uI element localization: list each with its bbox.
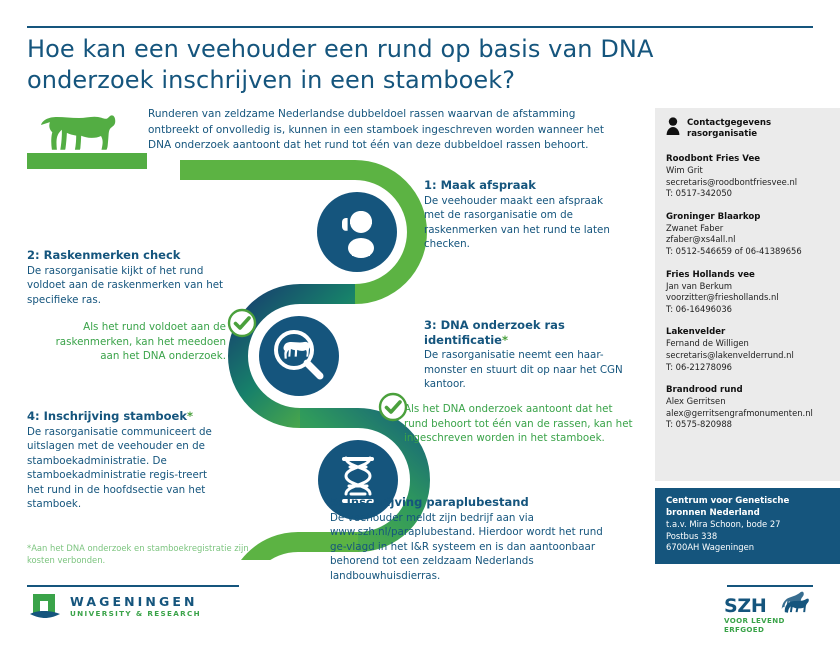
footer-divider-right — [727, 585, 813, 587]
step-1-icon-circle — [317, 192, 397, 272]
step-5-title: 5: Inschrijving paraplubestand — [330, 495, 620, 510]
cgn-line4: Postbus 338 — [666, 531, 834, 543]
footnote-text: *Aan het DNA onderzoek en stamboekregist… — [27, 543, 257, 566]
szh-tagline: VOOR LEVEND ERFGOED — [724, 616, 816, 634]
page-title: Hoe kan een veehouder een rund op basis … — [27, 34, 667, 96]
szh-logo: SZH VOOR LEVEND ERFGOED — [724, 589, 816, 634]
horse-and-cow-icon — [768, 589, 816, 616]
contact-org-brandrood: Brandrood rund Alex Gerritsen alex@gerri… — [666, 384, 834, 431]
step-2-body: De rasorganisatie kijkt of het rund vold… — [27, 264, 227, 308]
contact-org-frieshollands: Fries Hollands vee Jan van Berkum voorzi… — [666, 269, 834, 316]
step-5-body: De veehouder meldt zijn bedrijf aan via … — [330, 511, 620, 584]
step-1-body: De veehouder maakt een afspraak met de r… — [424, 194, 624, 252]
org-email[interactable]: secretaris@roodbontfriesvee.nl — [666, 177, 834, 189]
cow-illustration — [27, 103, 147, 169]
step-1-text: 1: Maak afspraak De veehouder maakt een … — [424, 178, 624, 252]
step-4-text: 4: Inschrijving stamboek* De rasorganisa… — [27, 409, 227, 512]
step-2-title: 2: Raskenmerken check — [27, 248, 227, 263]
szh-wordmark: SZH — [724, 596, 766, 616]
contact-heading-line1: Contactgegevens — [687, 118, 771, 129]
step-3-footnote-marker: * — [502, 333, 508, 347]
contact-org-roodbont: Roodbont Fries Vee Wim Grit secretaris@r… — [666, 153, 834, 200]
org-person: Fernand de Willigen — [666, 338, 834, 350]
cgn-line2: bronnen Nederland — [666, 508, 834, 520]
intro-paragraph: Runderen van zeldzame Nederlandse dubbel… — [148, 107, 608, 154]
cgn-line1: Centrum voor Genetische — [666, 496, 834, 508]
step-3-title: 3: DNA onderzoek ras identificatie* — [424, 318, 634, 347]
person-icon — [666, 117, 680, 135]
check-badge-2 — [378, 392, 408, 422]
wageningen-line2: UNIVERSITY & RESEARCH — [70, 609, 201, 619]
step-3-title-text: 3: DNA onderzoek ras identificatie — [424, 318, 565, 347]
header-divider — [27, 26, 813, 28]
org-phone: T: 0512-546659 of 06-41389656 — [666, 246, 834, 258]
org-phone: T: 06-21278096 — [666, 362, 834, 374]
contact-heading-text: Contactgegevens rasorganisatie — [687, 117, 771, 140]
cgn-line5: 6700AH Wageningen — [666, 542, 834, 554]
intro-text: Runderen van zeldzame Nederlandse dubbel… — [148, 107, 608, 154]
contact-org-lakenvelder: Lakenvelder Fernand de Willigen secretar… — [666, 326, 834, 373]
wageningen-mark-icon — [29, 592, 61, 622]
step-4-title-text: 4: Inschrijving stamboek — [27, 409, 187, 423]
contact-heading-line2: rasorganisatie — [687, 129, 771, 140]
org-phone: T: 0575-820988 — [666, 419, 834, 431]
step-5-text: 5: Inschrijving paraplubestand De veehou… — [330, 495, 620, 583]
wageningen-logo: WAGENINGEN UNIVERSITY & RESEARCH — [29, 592, 201, 622]
org-email[interactable]: voorzitter@frieshollands.nl — [666, 292, 834, 304]
org-name: Groninger Blaarkop — [666, 211, 834, 223]
org-name: Brandrood rund — [666, 384, 834, 396]
contact-heading: Contactgegevens rasorganisatie — [666, 117, 834, 140]
org-phone: T: 06-16496036 — [666, 304, 834, 316]
step-2-text: 2: Raskenmerken check De rasorganisatie … — [27, 248, 227, 307]
org-person: Jan van Berkum — [666, 281, 834, 293]
check-badge-1 — [227, 308, 257, 338]
org-person: Zwanet Faber — [666, 223, 834, 235]
org-name: Roodbont Fries Vee — [666, 153, 834, 165]
org-email[interactable]: alex@gerritsengrafmonumenten.nl — [666, 408, 834, 420]
wageningen-wordmark: WAGENINGEN UNIVERSITY & RESEARCH — [70, 595, 201, 619]
cgn-line3: t.a.v. Mira Schoon, bode 27 — [666, 519, 834, 531]
contact-org-groninger: Groninger Blaarkop Zwanet Faber zfaber@x… — [666, 211, 834, 258]
contact-panel-content: Contactgegevens rasorganisatie Roodbont … — [666, 117, 834, 442]
org-name: Fries Hollands vee — [666, 269, 834, 281]
org-email[interactable]: zfaber@xs4all.nl — [666, 234, 834, 246]
org-email[interactable]: secretaris@lakenvelderrund.nl — [666, 350, 834, 362]
step-3-body: De rasorganisatie neemt een haar-monster… — [424, 348, 634, 392]
org-person: Wim Grit — [666, 165, 834, 177]
wageningen-line1: WAGENINGEN — [70, 595, 201, 609]
step-4-footnote-marker: * — [187, 409, 193, 423]
org-phone: T: 0517-342050 — [666, 188, 834, 200]
callout-dna: Als het DNA onderzoek aantoont dat het r… — [404, 402, 634, 446]
org-person: Alex Gerritsen — [666, 396, 834, 408]
step-2-icon-circle — [259, 316, 339, 396]
infographic-page: Hoe kan een veehouder een rund op basis … — [0, 0, 840, 657]
cgn-address-content: Centrum voor Genetische bronnen Nederlan… — [666, 496, 834, 554]
step-4-body: De rasorganisatie communiceert de uitsla… — [27, 425, 227, 513]
callout-raskenmerken: Als het rund voldoet aan de raskenmerken… — [36, 320, 226, 364]
step-1-title: 1: Maak afspraak — [424, 178, 624, 193]
step-4-title: 4: Inschrijving stamboek* — [27, 409, 227, 424]
org-name: Lakenvelder — [666, 326, 834, 338]
step-3-text: 3: DNA onderzoek ras identificatie* De r… — [424, 318, 634, 392]
footer-divider-left — [27, 585, 239, 587]
